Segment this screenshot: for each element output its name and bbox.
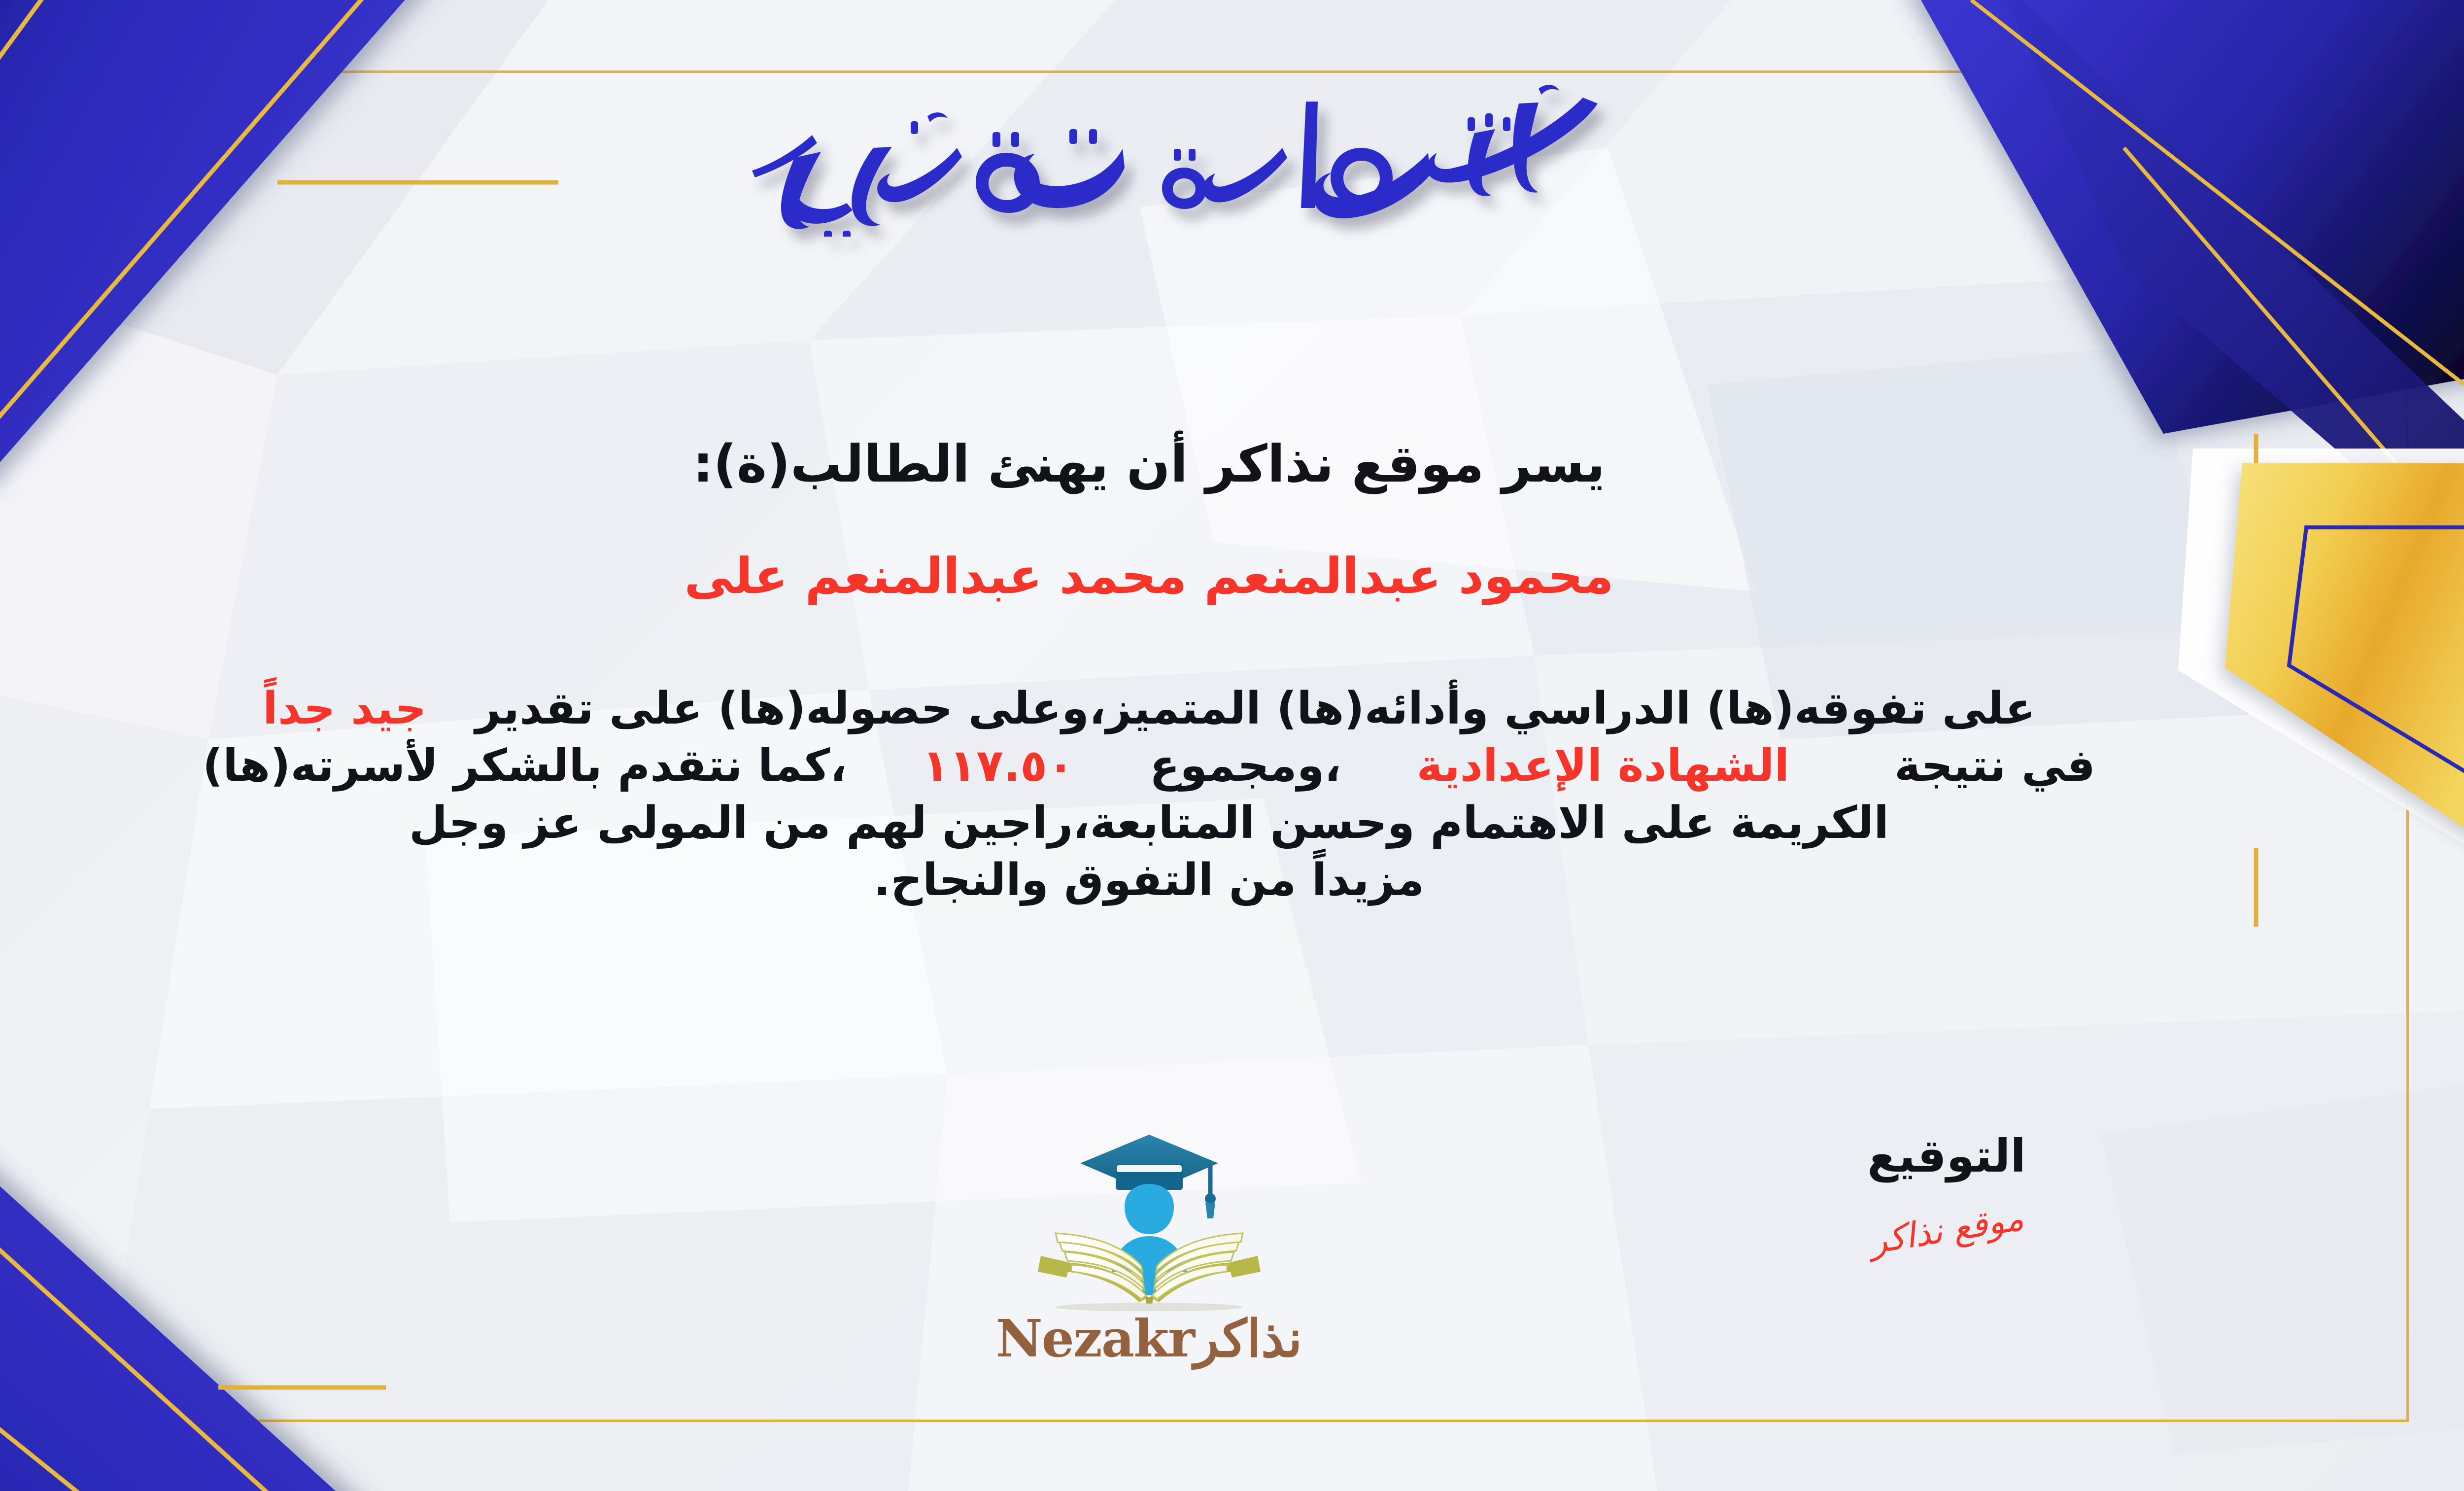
body-line2-total-label: ،ومجموع [1150,740,1341,792]
body-row-3: الكريمة على الاهتمام وحسن المتابعة،راجين… [0,795,2341,852]
grade-value: جيد جداً [263,683,427,734]
signature-label: التوقيع [1818,1134,2075,1179]
brand-wordmark-latin: Nezakr [996,1308,1195,1369]
signature-block: التوقيع موقع نذاكر [1818,1134,2075,1250]
certificate-body-paragraph: على تفوقه(ها) الدراسي وأدائه(ها) المتميز… [0,680,2341,909]
exam-name: الشهادة الإعدادية [1416,740,1789,792]
brand-wordmark-arabic: نذاكر [1194,1308,1302,1369]
title-calligraphy-icon [681,74,1617,237]
certificate-page: يسر موقع نذاكر أن يهنئ الطالب(ة): محمود … [0,0,2464,1491]
student-name: محمود عبدالمنعم محمد عبدالمنعم على [0,547,2464,605]
body-line2-prefix: في نتيجة [1894,740,2095,792]
body-line2-thanks: ،كما نتقدم بالشكر لأسرته(ها) [203,740,847,792]
body-line1-text: على تفوقه(ها) الدراسي وأدائه(ها) المتميز… [475,683,2035,734]
body-row-1: على تفوقه(ها) الدراسي وأدائه(ها) المتميز… [0,680,2341,737]
certificate-title [0,74,2464,237]
body-row-4: مزيداً من التفوق والنجاح. [0,852,2341,909]
brand-wordmark: نذاكرNezakr [937,1313,1361,1364]
graduation-book-logo-icon [1011,1124,1287,1311]
greeting-line: يسر موقع نذاكر أن يهنئ الطالب(ة): [0,434,2464,494]
signature-script: موقع نذاكر [1867,1198,2026,1262]
total-score: ١١٧.٥٠ [922,740,1074,792]
body-row-2: في نتيجة الشهادة الإعدادية ،ومجموع ١١٧.٥… [0,737,2341,795]
brand-logo: نذاكرNezakr [937,1124,1361,1364]
